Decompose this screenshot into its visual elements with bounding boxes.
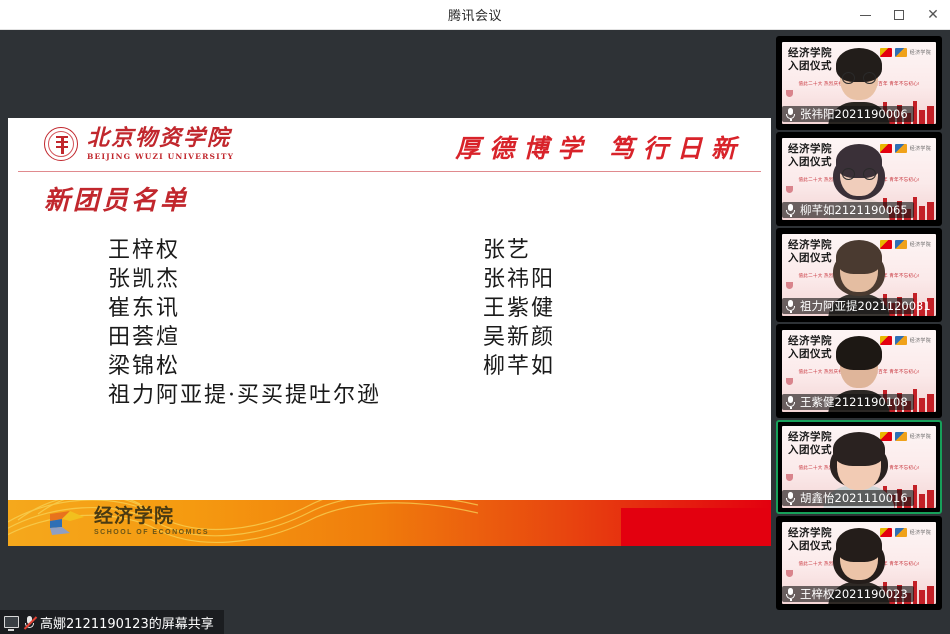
college-logo-icon: [895, 336, 907, 345]
footer-red-block: [621, 508, 771, 546]
school-of-economics-logo-icon: [50, 509, 86, 535]
participant-name-badge: 王梓权2021190023: [782, 586, 914, 602]
participant-name: 张祎阳2021190006: [800, 107, 908, 121]
participant-name-badge: 柳芊如2121190065: [782, 202, 914, 218]
ribbon-icon: [786, 570, 793, 577]
slide-title: 新团员名单: [44, 180, 189, 217]
university-name-block: 北京物资学院 BEIJING WUZI UNIVERSITY: [87, 127, 234, 160]
name-item: 王梓权: [108, 236, 381, 265]
screen-share-owner: 高娜2121190123的屏幕共享: [40, 613, 214, 632]
maximize-button[interactable]: [882, 0, 916, 30]
window-controls: ✕: [848, 0, 950, 30]
slide-header: 北京物资学院 BEIJING WUZI UNIVERSITY 厚德博学 笃行日新: [8, 118, 771, 174]
college-logo-text: 经济学院: [910, 337, 931, 344]
title-bar: 腾讯会议 ✕: [0, 0, 950, 30]
close-icon: ✕: [927, 8, 939, 22]
virtual-bg-title: 经济学院 入团仪式: [788, 239, 832, 265]
virtual-bg-title: 经济学院 入团仪式: [788, 143, 832, 169]
college-logo-icon: [895, 48, 907, 57]
participant-tile[interactable]: 经济学院 入团仪式 经济学院 值此二十大 热烈庆祝中国共产党 建团百年 青年不忘…: [776, 228, 942, 322]
slide-footer-band: 经济学院 SCHOOL OF ECONOMICS: [8, 500, 771, 546]
minimize-icon: [860, 15, 871, 16]
mic-on-icon: [785, 107, 796, 121]
name-item: 祖力阿亚提·买买提吐尔逊: [108, 381, 381, 410]
name-item: 张祎阳: [483, 265, 555, 294]
window-title: 腾讯会议: [448, 5, 502, 24]
participant-tile[interactable]: 经济学院 入团仪式 经济学院 值此二十大 热烈庆祝中国共产党 建团百年 青年不忘…: [776, 324, 942, 418]
university-name-en: BEIJING WUZI UNIVERSITY: [87, 152, 234, 161]
college-logo-icon: [895, 528, 907, 537]
participant-name-badge: 张祎阳2021190006: [782, 106, 914, 122]
name-item: 柳芊如: [483, 352, 555, 381]
ribbon-icon: [786, 90, 793, 97]
shared-screen-stage[interactable]: 北京物资学院 BEIJING WUZI UNIVERSITY 厚德博学 笃行日新…: [0, 30, 774, 634]
college-name-cn: 经济学院: [94, 507, 209, 526]
mic-on-icon: [785, 587, 796, 601]
ribbon-icon: [786, 378, 793, 385]
name-item: 田荟煊: [108, 323, 381, 352]
shared-content-surface: 北京物资学院 BEIJING WUZI UNIVERSITY 厚德博学 笃行日新…: [8, 118, 771, 546]
university-name-cn: 北京物资学院: [87, 127, 234, 150]
university-seal-icon: [44, 127, 78, 161]
mic-on-icon: [785, 299, 796, 313]
college-logo-text: 经济学院: [910, 433, 931, 440]
participant-name: 祖力阿亚提2021120031: [800, 299, 931, 313]
participant-name-badge: 祖力阿亚提2021120031: [782, 298, 914, 314]
college-logo-text: 经济学院: [910, 529, 931, 536]
name-item: 崔东讯: [108, 294, 381, 323]
college-name-en: SCHOOL OF ECONOMICS: [94, 529, 209, 536]
mic-muted-icon: [23, 615, 36, 630]
name-item: 王紫健: [483, 294, 555, 323]
presentation-slide: 北京物资学院 BEIJING WUZI UNIVERSITY 厚德博学 笃行日新…: [8, 118, 771, 546]
ribbon-icon: [786, 186, 793, 193]
virtual-bg-title: 经济学院 入团仪式: [788, 527, 832, 553]
virtual-bg-title: 经济学院 入团仪式: [788, 47, 832, 73]
participant-tile[interactable]: 经济学院 入团仪式 经济学院 值此二十大 热烈庆祝中国共产党 建团百年 青年不忘…: [776, 36, 942, 130]
name-item: 梁锦松: [108, 352, 381, 381]
participant-filmstrip[interactable]: 经济学院 入团仪式 经济学院 值此二十大 热烈庆祝中国共产党 建团百年 青年不忘…: [774, 30, 950, 634]
mic-on-icon: [785, 491, 796, 505]
college-logo-icon: [895, 144, 907, 153]
close-button[interactable]: ✕: [916, 0, 950, 30]
participant-name: 柳芊如2121190065: [800, 203, 908, 217]
name-item: 张凯杰: [108, 265, 381, 294]
mic-on-icon: [785, 395, 796, 409]
participant-name-badge: 胡鑫怡2021110016: [782, 490, 914, 506]
names-column-right: 张艺 张祎阳 王紫健 吴新颜 柳芊如: [483, 236, 555, 381]
participant-name: 胡鑫怡2021110016: [800, 491, 908, 505]
participant-tile[interactable]: 经济学院 入团仪式 经济学院 值此二十大 热烈庆祝中国共产党 建团百年 青年不忘…: [776, 516, 942, 610]
mic-on-icon: [785, 203, 796, 217]
name-item: 吴新颜: [483, 323, 555, 352]
names-column-left: 王梓权 张凯杰 崔东讯 田荟煊 梁锦松 祖力阿亚提·买买提吐尔逊: [108, 236, 381, 410]
participant-name: 王紫健2121190108: [800, 395, 908, 409]
college-brand: 经济学院 SCHOOL OF ECONOMICS: [50, 507, 209, 536]
ribbon-icon: [786, 282, 793, 289]
participant-name: 王梓权2021190023: [800, 587, 908, 601]
college-logo-icon: [895, 432, 907, 441]
minimize-button[interactable]: [848, 0, 882, 30]
meeting-window: 腾讯会议 ✕ 北京物资学院 BEIJING WUZI UNIVERSITY: [0, 0, 950, 634]
name-item: 张艺: [483, 236, 555, 265]
college-logo-icon: [895, 240, 907, 249]
university-logo: 北京物资学院 BEIJING WUZI UNIVERSITY: [44, 127, 234, 161]
monitor-icon: [4, 616, 19, 628]
college-logo-text: 经济学院: [910, 241, 931, 248]
participant-name-badge: 王紫健2121190108: [782, 394, 914, 410]
ribbon-icon: [786, 474, 793, 481]
header-divider: [18, 171, 761, 172]
virtual-bg-title: 经济学院 入团仪式: [788, 335, 832, 361]
participant-tile-active-speaker[interactable]: 经济学院 入团仪式 经济学院 值此二十大 热烈庆祝中国共产党 建团百年 青年不忘…: [776, 420, 942, 514]
maximize-icon: [894, 10, 904, 20]
names-section: 王梓权 张凯杰 崔东讯 田荟煊 梁锦松 祖力阿亚提·买买提吐尔逊 张艺 张祎阳 …: [8, 236, 771, 416]
college-logo-text: 经济学院: [910, 145, 931, 152]
college-logo-text: 经济学院: [910, 49, 931, 56]
participant-tile[interactable]: 经济学院 入团仪式 经济学院 值此二十大 热烈庆祝中国共产党 建团百年 青年不忘…: [776, 132, 942, 226]
university-motto: 厚德博学 笃行日新: [455, 129, 745, 165]
screen-share-label: 高娜2121190123的屏幕共享: [0, 610, 224, 634]
